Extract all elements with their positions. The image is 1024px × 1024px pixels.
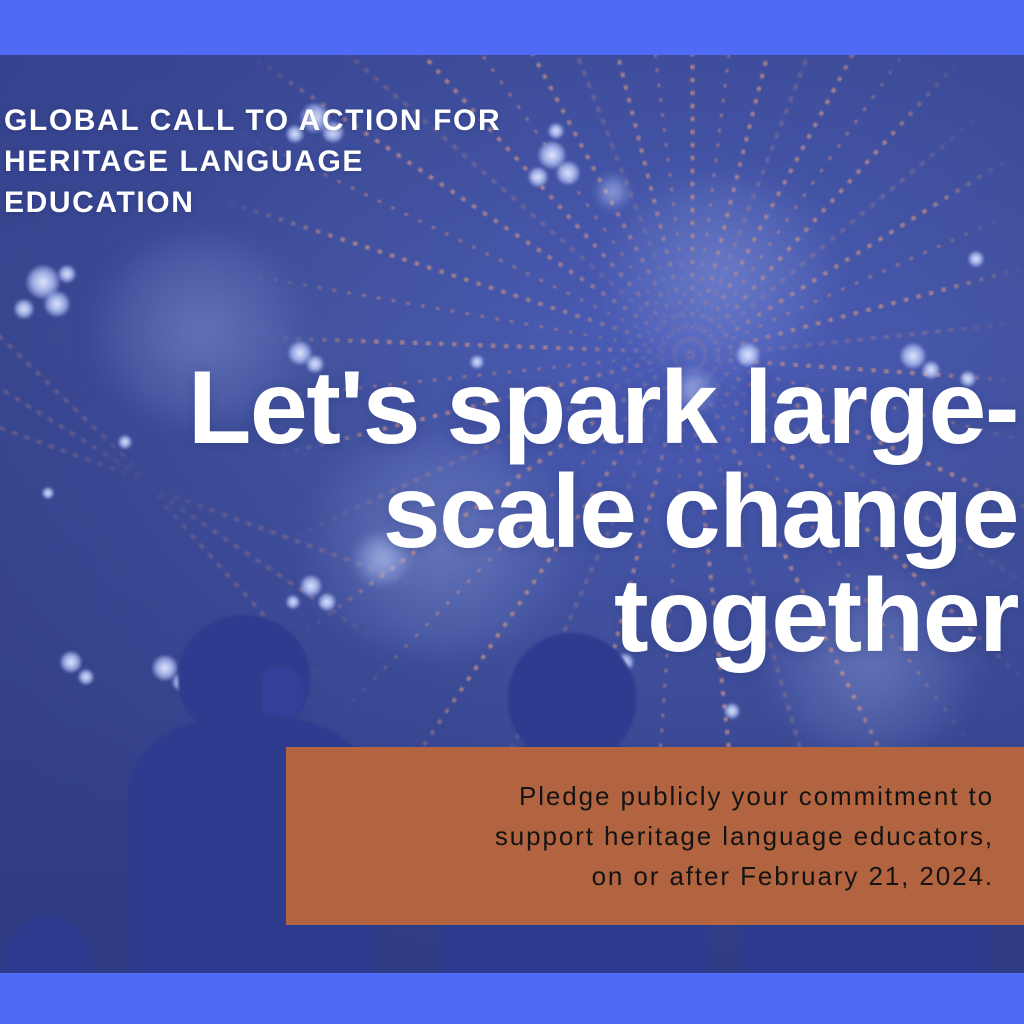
callout-text: Pledge publicly your commitment to suppo… [495, 776, 994, 896]
poster-canvas: Global call to action for heritage langu… [0, 0, 1024, 1024]
callout-box: Pledge publicly your commitment to suppo… [286, 747, 1024, 925]
kicker-heading: Global call to action for heritage langu… [4, 100, 644, 223]
silhouette-person-far-left-head [2, 917, 94, 973]
frame-bar-bottom [0, 973, 1024, 1024]
frame-bar-top [0, 0, 1024, 55]
headline: Let's spark large- scale change together [178, 356, 1018, 668]
